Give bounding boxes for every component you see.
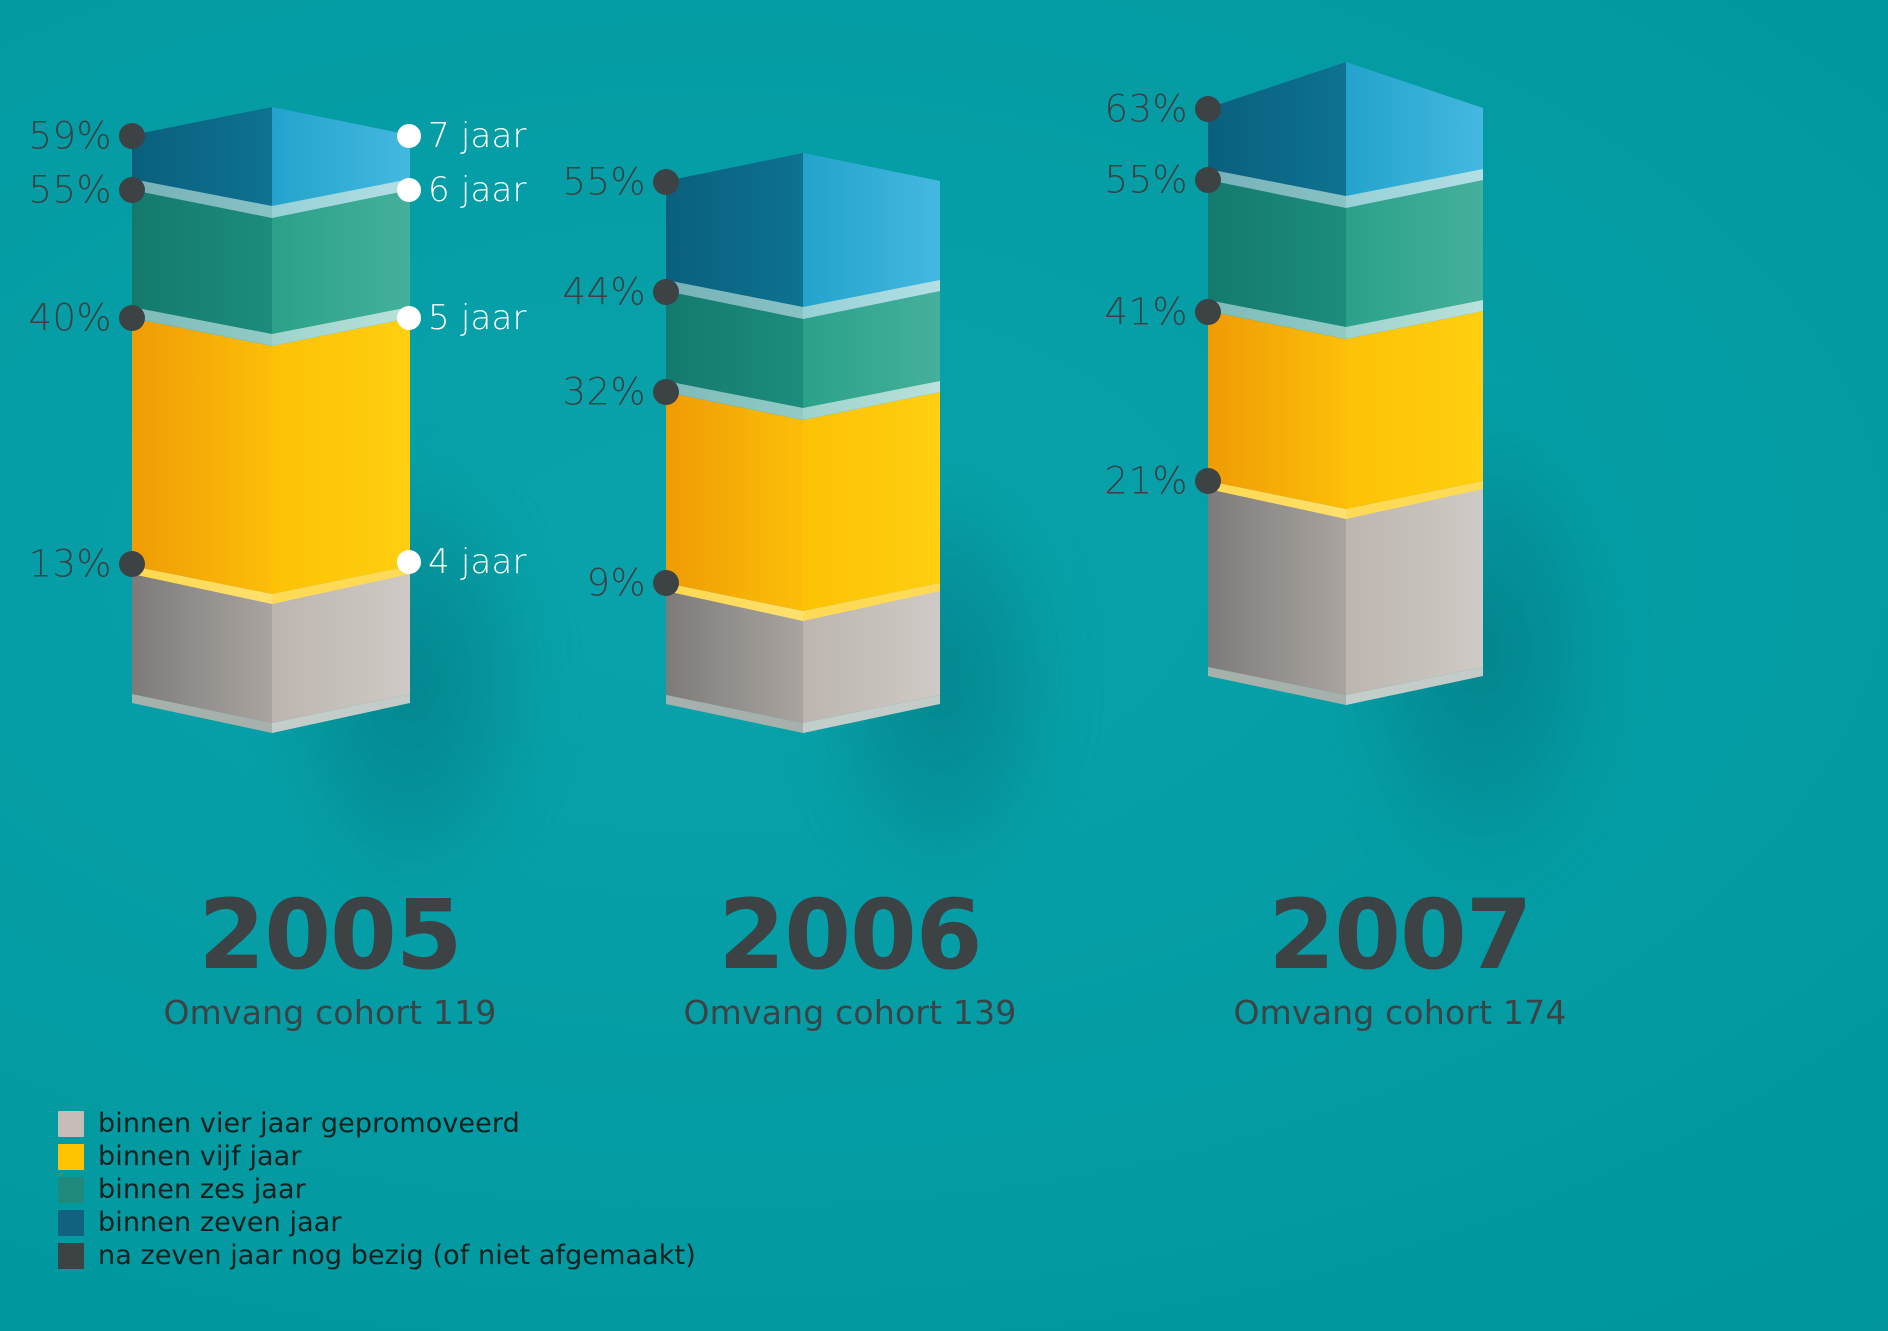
- marker-2007-63: [1195, 96, 1221, 122]
- segment-2007-vijf-jaar-left: [1208, 311, 1346, 509]
- pct-label-2006-1: 44%: [528, 271, 646, 314]
- callout-4-jaar: 4 jaar: [428, 542, 527, 582]
- cohort-label-2007: Omvang cohort 174: [1190, 993, 1610, 1032]
- pct-label-2005-2: 40%: [0, 297, 112, 340]
- cohort-label-2006: Omvang cohort 139: [640, 993, 1060, 1032]
- callout-6-jaar: 6 jaar: [428, 170, 527, 210]
- marker-callout-4-jaar: [397, 550, 421, 574]
- marker-2006-44: [653, 279, 679, 305]
- pct-label-2007-3: 21%: [1070, 460, 1188, 503]
- marker-callout-5-jaar: [397, 306, 421, 330]
- segment-2005-vijf-jaar-right: [272, 318, 410, 594]
- legend-label-zes-jaar: binnen zes jaar: [98, 1176, 306, 1203]
- cohort-label-2005: Omvang cohort 119: [120, 993, 540, 1032]
- pct-label-2006-0: 55%: [528, 161, 646, 204]
- bar-2006[interactable]: [666, 153, 940, 733]
- marker-2005-13: [119, 551, 145, 577]
- pct-label-2006-3: 9%: [528, 562, 646, 605]
- year-label-2005: 2005: [120, 890, 540, 981]
- pct-label-2006-2: 32%: [528, 371, 646, 414]
- marker-2007-41: [1195, 299, 1221, 325]
- legend-swatch-vier-jaar: [58, 1111, 84, 1137]
- marker-2006-32: [653, 379, 679, 405]
- marker-2005-55: [119, 177, 145, 203]
- segment-2006-vijf-jaar-left: [666, 392, 803, 611]
- marker-2006-9: [653, 570, 679, 596]
- year-label-2006: 2006: [640, 890, 1060, 981]
- bar-2007[interactable]: [1208, 62, 1483, 705]
- pct-label-2007-2: 41%: [1070, 291, 1188, 334]
- marker-2007-21: [1195, 468, 1221, 494]
- year-caption-2007: 2007 Omvang cohort 174: [1190, 890, 1610, 1032]
- pct-label-2005-1: 55%: [0, 169, 112, 212]
- legend-item-na-zeven-jaar[interactable]: na zeven jaar nog bezig (of niet afgemaa…: [58, 1242, 696, 1269]
- marker-2005-59: [119, 123, 145, 149]
- legend-label-vijf-jaar: binnen vijf jaar: [98, 1143, 302, 1170]
- legend-item-zes-jaar[interactable]: binnen zes jaar: [58, 1176, 696, 1203]
- pct-label-2007-1: 55%: [1070, 159, 1188, 202]
- legend-item-zeven-jaar[interactable]: binnen zeven jaar: [58, 1209, 696, 1236]
- legend-swatch-zeven-jaar: [58, 1210, 84, 1236]
- segment-2006-vijf-jaar-right: [803, 392, 940, 611]
- callout-5-jaar: 5 jaar: [428, 298, 527, 338]
- marker-callout-7-jaar: [397, 124, 421, 148]
- bar-2005[interactable]: [132, 107, 410, 733]
- legend-item-vijf-jaar[interactable]: binnen vijf jaar: [58, 1143, 696, 1170]
- legend-label-zeven-jaar: binnen zeven jaar: [98, 1209, 342, 1236]
- legend-item-vier-jaar[interactable]: binnen vier jaar gepromoveerd: [58, 1110, 696, 1137]
- pct-label-2005-3: 13%: [0, 543, 112, 586]
- infographic-canvas: 59% 55% 40% 13% 55% 44% 32% 9% 63% 55% 4…: [0, 0, 1888, 1331]
- legend-label-na-zeven-jaar: na zeven jaar nog bezig (of niet afgemaa…: [98, 1242, 696, 1269]
- chart-legend: binnen vier jaar gepromoveerd binnen vij…: [58, 1110, 696, 1269]
- year-label-2007: 2007: [1190, 890, 1610, 981]
- legend-swatch-zes-jaar: [58, 1177, 84, 1203]
- legend-swatch-na-zeven-jaar: [58, 1243, 84, 1269]
- marker-2005-40: [119, 305, 145, 331]
- legend-swatch-vijf-jaar: [58, 1144, 84, 1170]
- marker-2007-55: [1195, 167, 1221, 193]
- marker-callout-6-jaar: [397, 178, 421, 202]
- segment-2007-vijf-jaar-right: [1346, 311, 1483, 509]
- marker-2006-55: [653, 169, 679, 195]
- pct-label-2007-0: 63%: [1070, 88, 1188, 131]
- pct-label-2005-0: 59%: [0, 115, 112, 158]
- legend-label-vier-jaar: binnen vier jaar gepromoveerd: [98, 1110, 520, 1137]
- year-caption-2006: 2006 Omvang cohort 139: [640, 890, 1060, 1032]
- callout-7-jaar: 7 jaar: [428, 116, 527, 156]
- year-caption-2005: 2005 Omvang cohort 119: [120, 890, 540, 1032]
- segment-2005-vijf-jaar-left: [132, 318, 272, 594]
